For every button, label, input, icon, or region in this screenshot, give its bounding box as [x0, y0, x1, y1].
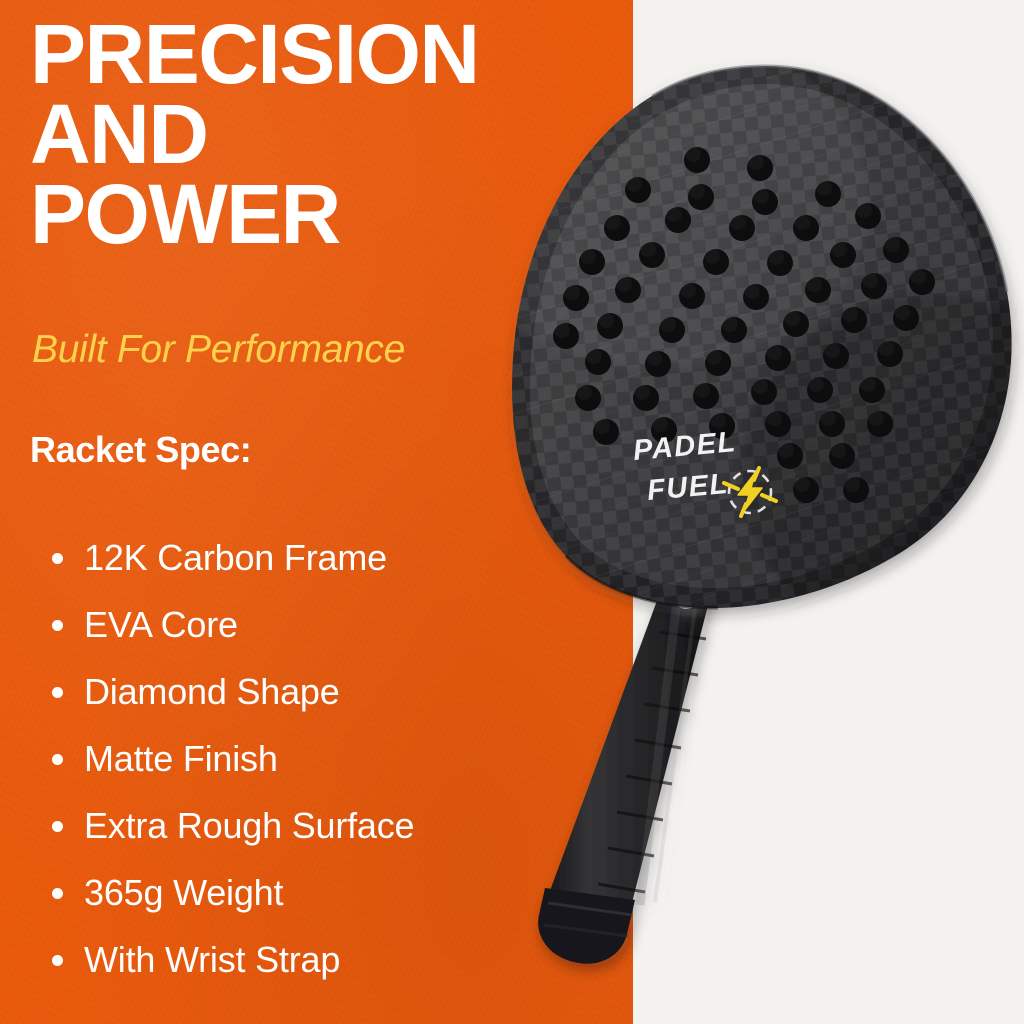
- subtitle-tagline: Built For Performance: [32, 330, 405, 369]
- spec-item-label: Matte Finish: [84, 741, 278, 777]
- spec-section-heading: Racket Spec:: [30, 432, 251, 468]
- bullet-dot-icon: [52, 821, 63, 832]
- spec-item-label: Extra Rough Surface: [84, 808, 414, 844]
- spec-item-label: With Wrist Strap: [84, 942, 340, 978]
- list-item: Extra Rough Surface: [32, 792, 612, 859]
- poster-copy: PRECISION AND POWER Built For Performanc…: [30, 0, 630, 1024]
- spec-item-label: Diamond Shape: [84, 674, 340, 710]
- list-item: Diamond Shape: [32, 658, 612, 725]
- spec-item-label: 12K Carbon Frame: [84, 540, 387, 576]
- bullet-dot-icon: [52, 888, 63, 899]
- bullet-dot-icon: [52, 553, 63, 564]
- bullet-dot-icon: [52, 687, 63, 698]
- bullet-dot-icon: [52, 754, 63, 765]
- list-item: Matte Finish: [32, 725, 612, 792]
- spec-item-label: EVA Core: [84, 607, 238, 643]
- product-poster: PADEL FUEL PRECISION AND POWER Built: [0, 0, 1024, 1024]
- spec-item-label: 365g Weight: [84, 875, 283, 911]
- racket-spec-list: 12K Carbon FrameEVA CoreDiamond ShapeMat…: [32, 524, 612, 993]
- bullet-dot-icon: [52, 620, 63, 631]
- list-item: With Wrist Strap: [32, 926, 612, 993]
- list-item: 12K Carbon Frame: [32, 524, 612, 591]
- list-item: 365g Weight: [32, 859, 612, 926]
- list-item: EVA Core: [32, 591, 612, 658]
- page-title: PRECISION AND POWER: [30, 14, 590, 255]
- bullet-dot-icon: [52, 955, 63, 966]
